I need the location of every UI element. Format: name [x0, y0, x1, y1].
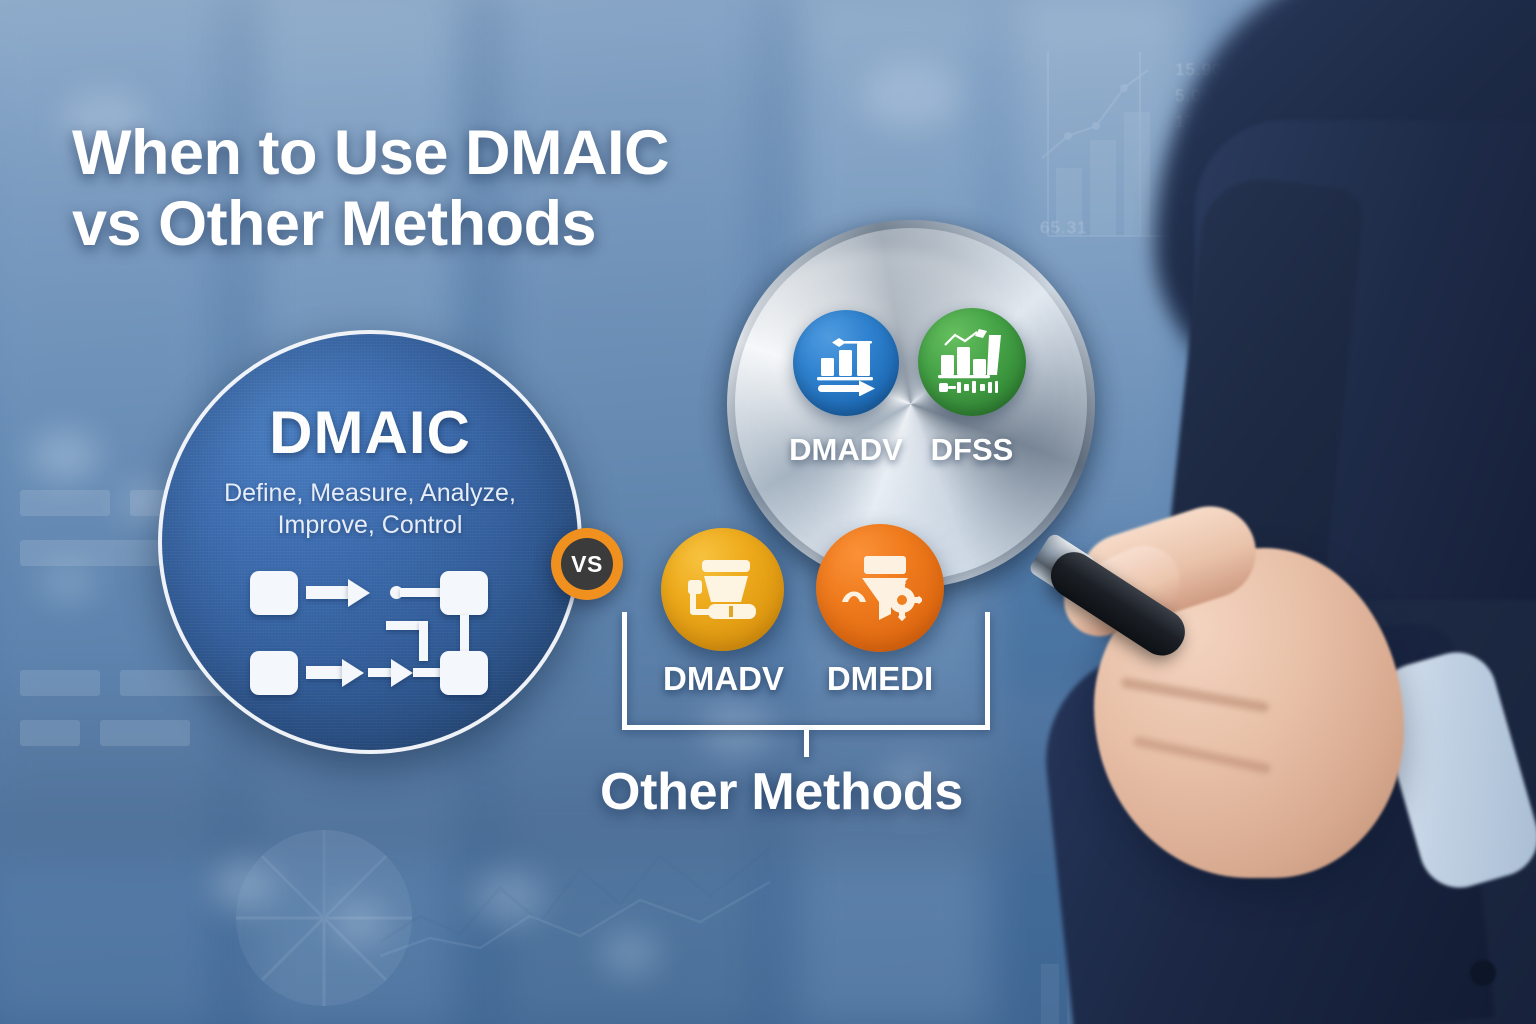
flow-arrowhead: [342, 659, 364, 687]
person-cuff-button: [1470, 960, 1496, 986]
background-line-chart: [380, 830, 810, 970]
method-label-dmadv-lens: DMADV: [770, 432, 922, 468]
flow-connector: [419, 621, 428, 661]
background-bokeh: [860, 60, 960, 130]
flow-node: [250, 651, 298, 695]
flow-node: [440, 571, 488, 615]
versus-badge: VS: [551, 528, 623, 600]
flow-arrowhead: [348, 579, 370, 607]
dmaic-title: DMAIC: [269, 398, 471, 467]
page-title-line1: When to Use DMAIC: [72, 118, 669, 189]
page-title-line2: vs Other Methods: [72, 189, 669, 260]
flow-connector: [306, 586, 352, 599]
dmaic-subtitle-line2: Improve, Control: [224, 509, 516, 541]
other-methods-heading: Other Methods: [600, 762, 963, 822]
dmaic-subtitle: Define, Measure, Analyze, Improve, Contr…: [224, 477, 516, 541]
flow-connector: [400, 588, 444, 597]
flow-arrowhead: [391, 659, 413, 687]
bar-chart-arrow-icon: [811, 330, 881, 396]
flow-connector: [306, 666, 346, 679]
process-flowchart-icon: [250, 567, 490, 697]
method-circle-dmadv-lens[interactable]: [793, 310, 899, 416]
method-label-dfss-lens: DFSS: [902, 432, 1042, 468]
flow-node: [250, 571, 298, 615]
flow-connector: [460, 615, 469, 655]
page-title: When to Use DMAIC vs Other Methods: [72, 118, 669, 259]
background-chart-value: 65.31: [1040, 218, 1088, 238]
dmaic-circle[interactable]: DMAIC Define, Measure, Analyze, Improve,…: [158, 330, 582, 754]
magnifier-lens: [735, 228, 1087, 580]
flow-node: [440, 651, 488, 695]
poster-canvas: 15.90% 5.0% 17.00% 65.31: [0, 0, 1536, 1024]
bar-chart-trend-icon: [935, 329, 1009, 395]
dmaic-subtitle-line1: Define, Measure, Analyze,: [224, 477, 516, 509]
versus-label: VS: [561, 538, 613, 590]
other-methods-bracket: [622, 612, 990, 730]
method-circle-dfss-lens[interactable]: [918, 308, 1026, 416]
other-methods-bracket-stem: [804, 730, 809, 757]
